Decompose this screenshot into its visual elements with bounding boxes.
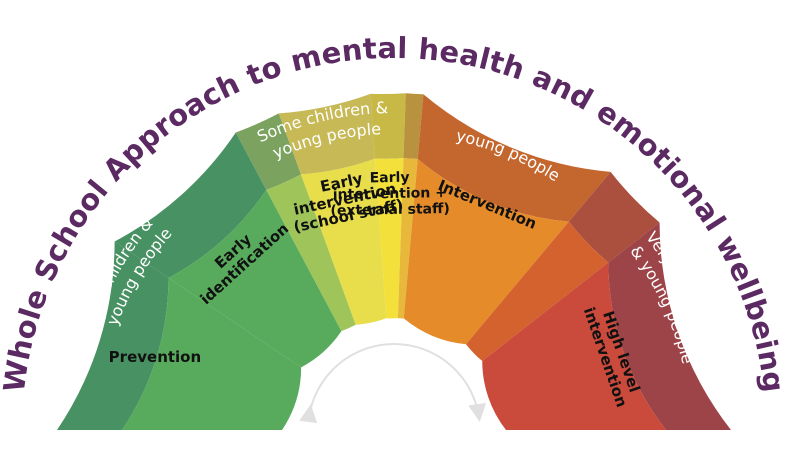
inner-label-prevention: Prevention xyxy=(109,347,202,365)
infographic-canvas: All children &young peopleSome children … xyxy=(0,0,786,464)
center-arrow-group xyxy=(309,344,479,418)
inner-label-text-prevention: Prevention xyxy=(109,347,202,365)
whole-school-approach-wheel: All children &young peopleSome children … xyxy=(0,0,786,464)
bidirectional-continuum-arrow xyxy=(309,344,479,418)
